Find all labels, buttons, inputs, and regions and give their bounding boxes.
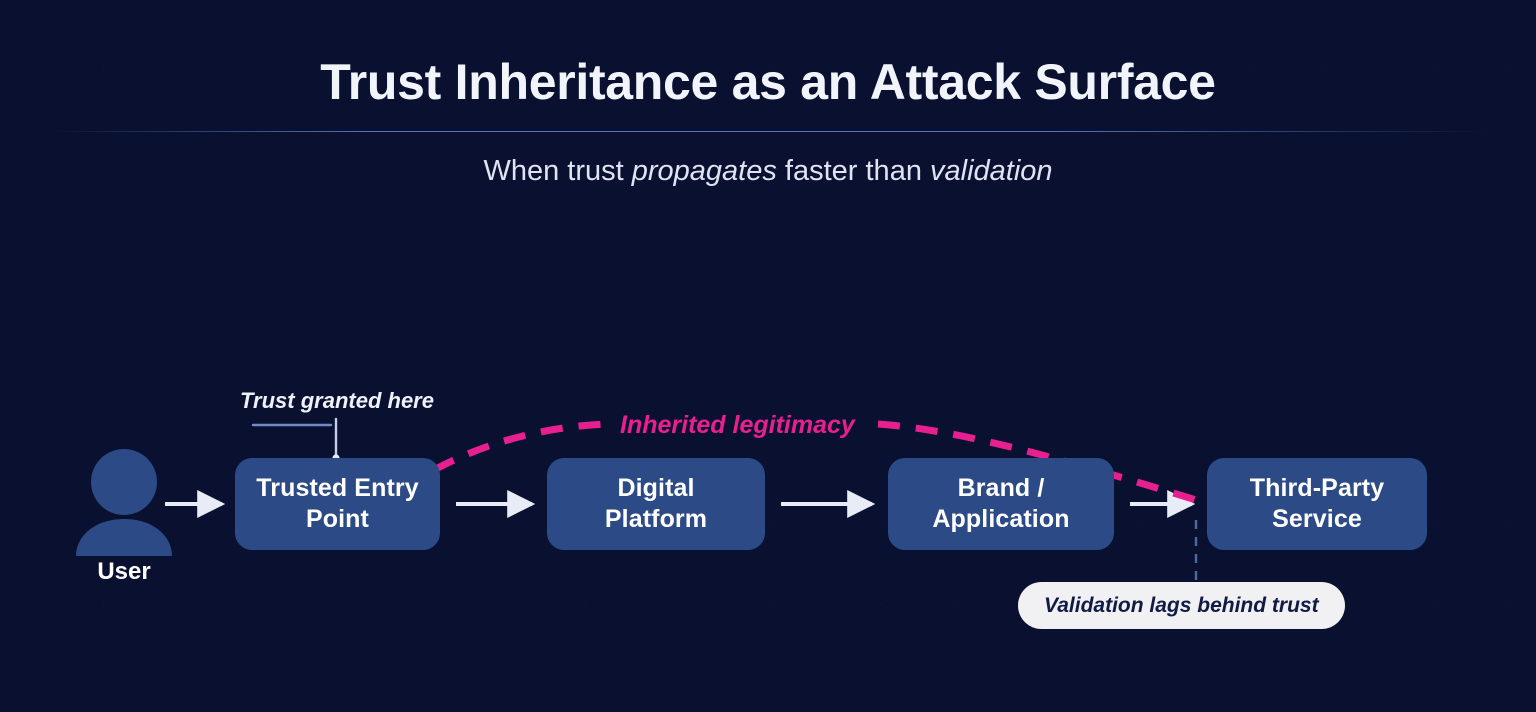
node-brand-application[interactable]: Brand / Application — [888, 458, 1114, 550]
node-digital-platform[interactable]: Digital Platform — [547, 458, 765, 550]
annotation-trust-granted-here: Trust granted here — [240, 388, 434, 414]
node-trusted-entry-point[interactable]: Trusted Entry Point — [235, 458, 440, 550]
user-avatar-icon — [76, 449, 172, 556]
node-third-party-service[interactable]: Third-Party Service — [1207, 458, 1427, 550]
annotation-inherited-legitimacy: Inherited legitimacy — [620, 411, 855, 440]
user-label: User — [44, 558, 204, 586]
annotation-validation-lag-pill: Validation lags behind trust — [1018, 582, 1345, 629]
slide-canvas: Trust Inheritance as an Attack Surface W… — [0, 0, 1536, 712]
trust-granted-leader — [253, 419, 340, 462]
